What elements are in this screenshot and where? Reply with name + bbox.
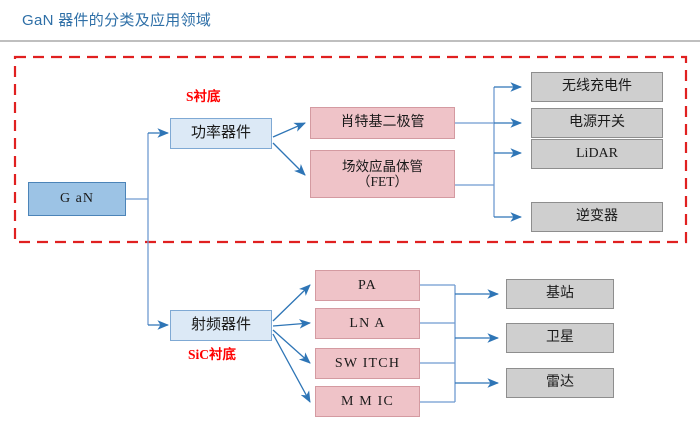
node-app-base-station[interactable]: 基站 (506, 279, 614, 309)
node-gan[interactable]: G aN (28, 182, 126, 216)
label-si-substrate: S衬底 (186, 85, 221, 105)
node-app-lidar-label: LiDAR (576, 146, 618, 162)
node-fet-label-line2: （FET） (357, 174, 408, 189)
node-rf-devices-label: 射频器件 (191, 317, 251, 334)
node-rf-devices[interactable]: 射频器件 (170, 310, 272, 341)
node-app-radar-label: 雷达 (546, 375, 574, 391)
node-app-inverter-label: 逆变器 (576, 209, 618, 225)
node-pa[interactable]: PA (315, 270, 420, 301)
node-schottky-diode-label: 肖特基二极管 (341, 115, 425, 131)
title-divider (0, 40, 700, 42)
node-lna[interactable]: LN A (315, 308, 420, 339)
node-app-lidar[interactable]: LiDAR (531, 139, 663, 169)
node-switch[interactable]: SW ITCH (315, 348, 420, 379)
header: GaN 器件的分类及应用领域 (0, 0, 700, 45)
node-fet-label-line1: 场效应晶体管 (342, 159, 423, 174)
node-app-wireless-charging-label: 无线充电件 (562, 79, 632, 95)
node-app-satellite-label: 卫星 (546, 330, 574, 346)
node-schottky-diode[interactable]: 肖特基二极管 (310, 107, 455, 139)
node-app-radar[interactable]: 雷达 (506, 368, 614, 398)
page-title: GaN 器件的分类及应用领域 (22, 9, 211, 30)
node-switch-label: SW ITCH (335, 356, 400, 372)
node-pa-label: PA (358, 278, 377, 294)
node-app-satellite[interactable]: 卫星 (506, 323, 614, 353)
node-power-devices-label: 功率器件 (191, 125, 251, 142)
node-power-devices[interactable]: 功率器件 (170, 118, 272, 149)
slide-page: GaN 器件的分类及应用领域 (0, 0, 700, 432)
gan-classification-diagram: G aN 功率器件 S衬底 射频器件 SiC衬底 肖特基二极管 场效应晶体管 （… (0, 45, 700, 432)
node-app-base-station-label: 基站 (546, 286, 574, 302)
node-app-power-switch[interactable]: 电源开关 (531, 108, 663, 138)
node-mmic-label: M M IC (341, 394, 394, 410)
node-fet[interactable]: 场效应晶体管 （FET） (310, 150, 455, 198)
node-gan-label: G aN (60, 191, 94, 207)
node-lna-label: LN A (349, 316, 385, 332)
node-mmic[interactable]: M M IC (315, 386, 420, 417)
label-sic-substrate: SiC衬底 (188, 343, 236, 363)
node-app-inverter[interactable]: 逆变器 (531, 202, 663, 232)
node-app-wireless-charging[interactable]: 无线充电件 (531, 72, 663, 102)
node-app-power-switch-label: 电源开关 (569, 115, 625, 131)
